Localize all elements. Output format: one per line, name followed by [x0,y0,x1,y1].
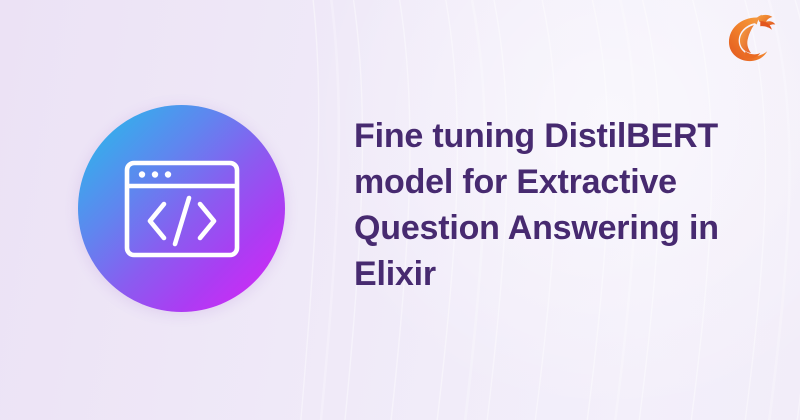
page-title: Fine tuning DistilBERT model for Extract… [354,113,754,297]
article-banner: Fine tuning DistilBERT model for Extract… [0,0,800,420]
phoenix-logo[interactable] [722,6,780,64]
code-window-badge [78,105,285,312]
code-brackets-icon [123,159,241,259]
